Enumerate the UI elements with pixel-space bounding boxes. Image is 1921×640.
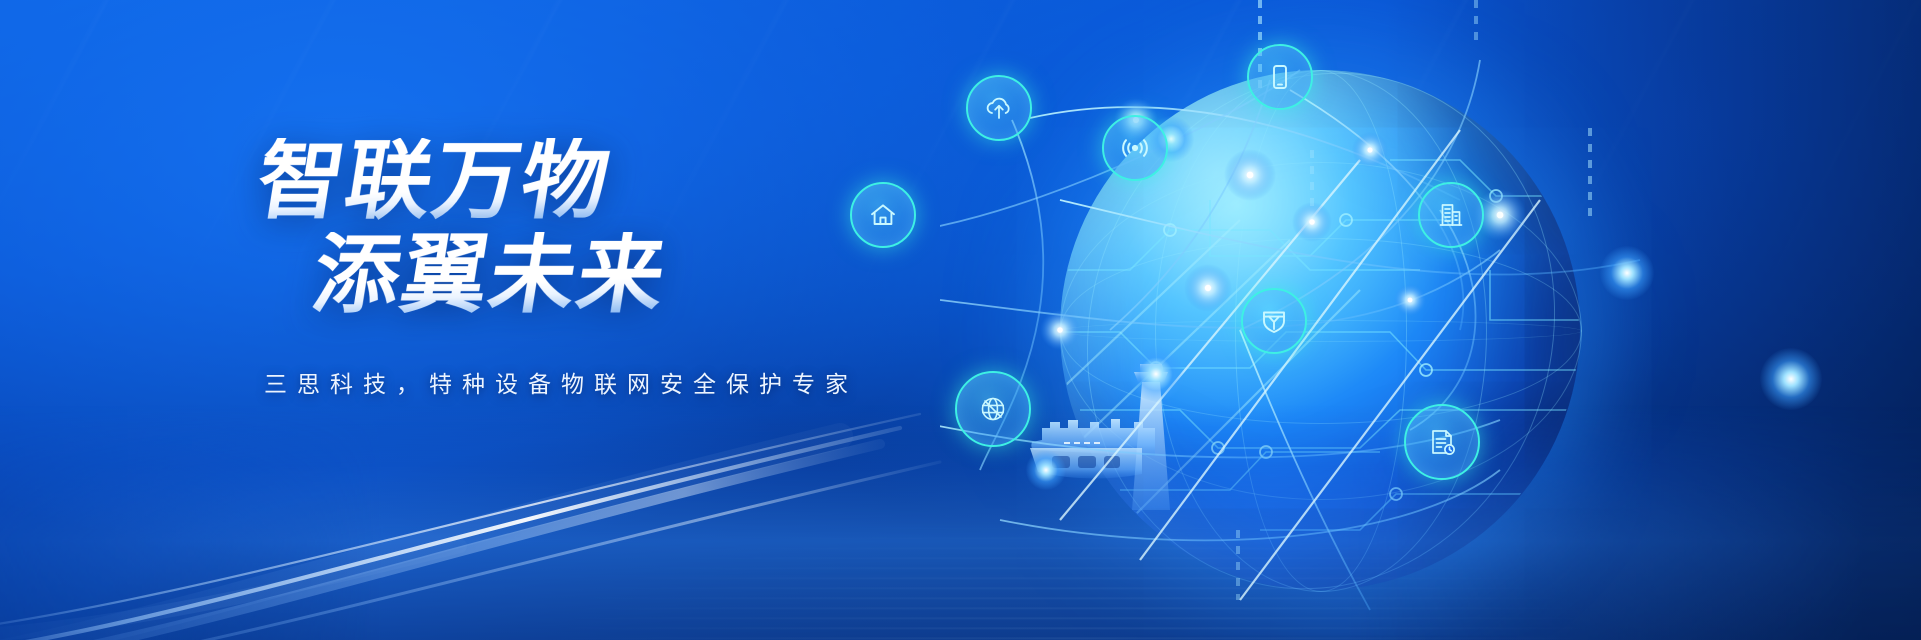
glow-node [1026, 450, 1066, 490]
cloud-upload-icon[interactable] [966, 75, 1032, 141]
dotted-tick-column [1310, 150, 1314, 210]
dotted-tick-column [1588, 128, 1592, 224]
headline-line-1: 智联万物 [251, 138, 965, 226]
dotted-tick-column [1236, 530, 1240, 600]
shield-icon[interactable] [1241, 288, 1307, 354]
smartphone-icon[interactable] [1247, 44, 1313, 110]
globe-network-icon[interactable] [955, 371, 1031, 447]
hero-subtitle: 三思科技，特种设备物联网安全保护专家 [264, 365, 958, 399]
wifi-signal-icon[interactable] [1102, 115, 1168, 181]
dotted-tick-column [1474, 0, 1478, 44]
hero-copy: 智联万物 添翼未来 三思科技，特种设备物联网安全保护专家 [258, 138, 958, 399]
glow-node [1600, 246, 1654, 300]
glow-node [1760, 348, 1822, 410]
building-icon[interactable] [1418, 182, 1484, 248]
document-report-icon[interactable] [1404, 404, 1480, 480]
hero-banner: 智联万物 添翼未来 三思科技，特种设备物联网安全保护专家 [0, 0, 1921, 640]
beacon-glow [1128, 346, 1184, 402]
headline-line-2: 添翼未来 [307, 232, 965, 320]
connection-network [940, 0, 1920, 640]
